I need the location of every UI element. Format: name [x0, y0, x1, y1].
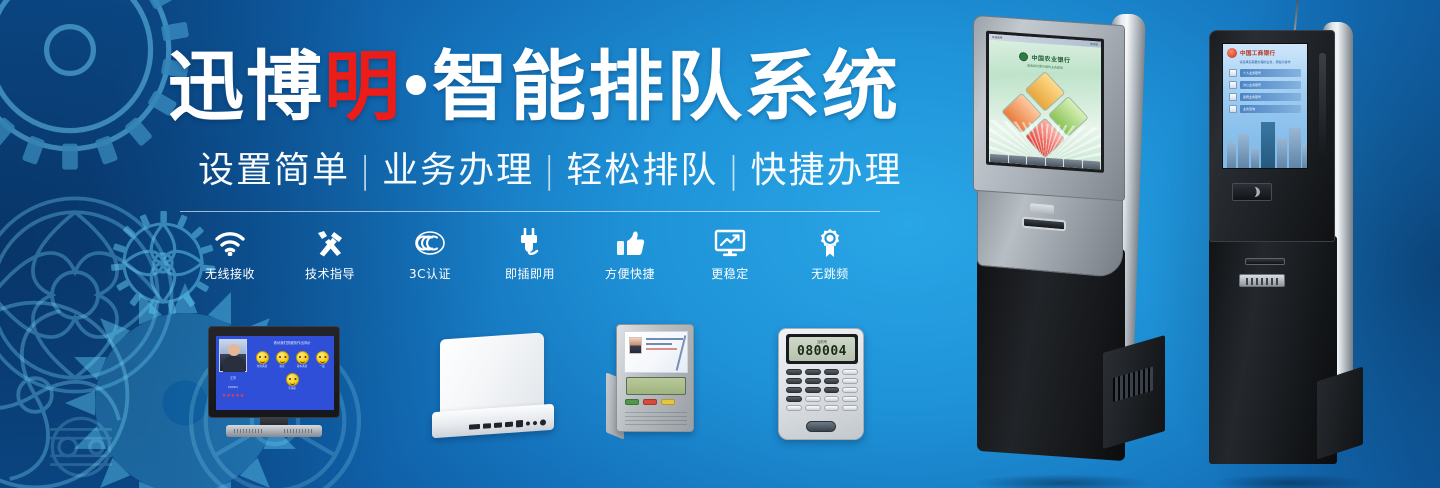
monitor-staff-panel: 王芳 100001 ★★★★★ — [216, 336, 250, 410]
keypad-key[interactable] — [842, 396, 858, 402]
kiosk-screen-statusbar: 欢迎使用 取号机 — [989, 34, 1101, 48]
product-evaluator-terminal — [606, 324, 698, 442]
kiosk-side-box — [1103, 335, 1165, 449]
product-kiosk-green: 欢迎使用 取号机 中国农业银行 请选择您要办理的业务类型 — [955, 14, 1170, 488]
kiosk-screen[interactable]: 中国工商银行 请选择您需要办理的业务，按提示操作 个人业务取号 对公业务取号 贵… — [1222, 43, 1308, 169]
emoji-rating-grid: 非常满意 满意 基本满意 — [253, 351, 331, 391]
kiosk-head: 欢迎使用 取号机 中国农业银行 请选择您要办理的业务类型 — [973, 15, 1125, 202]
status-left: 欢迎使用 — [992, 35, 1002, 40]
feature-label: 更稳定 — [711, 267, 749, 281]
evaluator-body — [616, 324, 694, 432]
subtitle-separator: | — [359, 150, 373, 191]
subtitle-separator: | — [543, 150, 557, 191]
evaluator-key-unsatisfied[interactable] — [643, 399, 657, 405]
keypad-key[interactable] — [786, 378, 802, 384]
keypad-key[interactable] — [786, 396, 802, 402]
banner-text-block: 迅博明智能排队系统 设置简单|业务办理|轻松排队|快捷办理 无线接收 — [0, 0, 900, 300]
ticket-dispenser-slot — [1022, 217, 1066, 232]
emoji-face-icon — [286, 373, 299, 386]
keypad-body: 当前号 080004 — [778, 328, 864, 440]
emoji-label: 基本满意 — [296, 365, 309, 369]
kiosk-logo-badge — [1239, 274, 1285, 287]
kiosk-head: 中国工商银行 请选择您需要办理的业务，按提示操作 个人业务取号 对公业务取号 贵… — [1209, 30, 1335, 242]
subtitle-item-1: 设置简单 — [198, 150, 350, 191]
kiosk-menu-item[interactable]: 贵宾业务取号 — [1229, 93, 1301, 101]
title-separator-dot — [406, 75, 426, 95]
emoji-option: 基本满意 — [296, 351, 309, 369]
port-usb — [483, 423, 491, 429]
feature-item-tech-support: 技术指导 — [280, 226, 380, 281]
kiosk-side-vent — [1319, 53, 1326, 163]
kiosk-screen-subtitle: 请选择您需要办理的业务，按提示操作 — [1223, 60, 1307, 65]
emoji-option: 一般 — [316, 351, 329, 369]
keypad-enter-button[interactable] — [806, 421, 836, 432]
menu-item-label: 个人业务取号 — [1240, 69, 1301, 77]
screen-button[interactable] — [1027, 156, 1045, 165]
evaluator-id-card — [624, 331, 688, 373]
emoji-face-icon — [316, 351, 329, 364]
keypad-key[interactable] — [824, 405, 840, 411]
evaluator-key-row — [625, 399, 687, 405]
keypad-key[interactable] — [805, 405, 821, 411]
feature-item-no-frequency-hopping: 无跳频 — [780, 226, 880, 281]
product-showcase: 王芳 100001 ★★★★★ 请对我们的服务作出评价 非常满意 — [0, 318, 900, 458]
keypad-key[interactable] — [842, 387, 858, 393]
page-subtitle: 设置简单|业务办理|轻松排队|快捷办理 — [198, 148, 902, 194]
product-calling-keypad: 当前号 080004 — [778, 328, 864, 440]
monitor-chart-icon — [710, 226, 750, 260]
product-controller-hub — [432, 336, 554, 442]
id-card-photo — [629, 337, 642, 354]
tools-icon — [310, 226, 350, 260]
title-part-2: 智能排队系统 — [432, 42, 900, 131]
kiosk-menu-list: 个人业务取号 对公业务取号 贵宾业务取号 业务咨询 — [1223, 69, 1307, 113]
menu-item-label: 对公业务取号 — [1240, 81, 1301, 89]
evaluator-key-satisfied[interactable] — [625, 399, 639, 405]
feature-item-wireless: 无线接收 — [180, 226, 280, 281]
power-plug-icon — [510, 226, 550, 260]
card-reader[interactable] — [1232, 183, 1272, 201]
subtitle-item-4: 快捷办理 — [750, 150, 902, 191]
staff-id: 100001 — [219, 385, 247, 390]
feature-label: 3C认证 — [409, 267, 451, 281]
keypad-key[interactable] — [805, 396, 821, 402]
hub-port-row — [469, 418, 546, 430]
kiosk-ground-shadow — [972, 474, 1153, 488]
promo-banner: 迅博明智能排队系统 设置简单|业务办理|轻松排队|快捷办理 无线接收 — [0, 0, 1440, 488]
port-power — [540, 419, 546, 425]
kiosk-menu-item[interactable]: 个人业务取号 — [1229, 69, 1301, 77]
nfc-wave-icon — [1244, 187, 1260, 197]
screen-button[interactable] — [1064, 159, 1082, 168]
feature-label: 技术指导 — [305, 267, 355, 281]
keypad-key[interactable] — [786, 405, 802, 411]
feature-item-plug-and-play: 即插即用 — [480, 226, 580, 281]
screen-button[interactable] — [1083, 160, 1101, 169]
feature-label: 方便快捷 — [605, 267, 655, 281]
feature-label: 即插即用 — [505, 267, 555, 281]
kiosk-menu-item[interactable]: 对公业务取号 — [1229, 81, 1301, 89]
ticket-dispenser-slot — [1245, 258, 1285, 265]
status-right: 取号机 — [1090, 42, 1098, 47]
keypad-key[interactable] — [805, 378, 821, 384]
keypad-key[interactable] — [842, 405, 858, 411]
evaluator-key-average[interactable] — [661, 399, 675, 405]
port-rj45 — [469, 424, 480, 430]
feature-item-convenient: 方便快捷 — [580, 226, 680, 281]
emoji-label: 不满意 — [286, 387, 299, 391]
bank-name: 中国工商银行 — [1240, 49, 1275, 57]
keypad-key[interactable] — [824, 369, 840, 375]
keypad-display-value: 080004 — [797, 345, 847, 359]
menu-item-label: 业务咨询 — [1240, 105, 1301, 113]
ccc-certify-icon — [410, 226, 450, 260]
staff-name: 王芳 — [219, 376, 247, 381]
staff-rating-stars: ★★★★★ — [219, 393, 247, 399]
keypad-key[interactable] — [824, 378, 840, 384]
product-kiosk-blue: 中国工商银行 请选择您需要办理的业务，按提示操作 个人业务取号 对公业务取号 贵… — [1195, 22, 1385, 488]
menu-item-icon — [1229, 81, 1237, 89]
bank-logo-icon — [1019, 52, 1028, 62]
staff-photo — [219, 339, 247, 372]
kiosk-menu-item[interactable]: 业务咨询 — [1229, 105, 1301, 113]
id-card-text-lines — [646, 338, 683, 353]
menu-item-label: 贵宾业务取号 — [1240, 93, 1301, 101]
emoji-face-icon — [276, 351, 289, 364]
subtitle-item-3: 轻松排队 — [566, 150, 718, 191]
keypad-key[interactable] — [805, 387, 821, 393]
feature-list: 无线接收 技术指导 — [180, 226, 880, 294]
port-audio — [526, 421, 530, 425]
emoji-face-icon — [296, 351, 309, 364]
wifi-icon — [210, 226, 250, 260]
port-audio — [533, 420, 537, 424]
keypad-lcd-frame: 当前号 080004 — [786, 334, 858, 364]
screen-city-illustration — [1223, 116, 1307, 168]
emoji-option: 不满意 — [286, 373, 299, 391]
kiosk-ground-shadow — [1210, 474, 1370, 488]
monitor-base — [226, 425, 322, 437]
title-part-1: 迅博 — [168, 42, 324, 131]
menu-item-icon — [1229, 105, 1237, 113]
kiosk-side-box — [1317, 367, 1363, 460]
screen-button[interactable] — [990, 154, 1008, 163]
thumbs-up-icon — [610, 226, 650, 260]
kiosk-vent-grille — [1113, 367, 1153, 402]
kiosk-screen[interactable]: 欢迎使用 取号机 中国农业银行 请选择您要办理的业务类型 — [986, 31, 1104, 173]
feature-item-3c-certified: 3C认证 — [380, 226, 480, 281]
emoji-option: 满意 — [276, 351, 289, 369]
product-evaluation-monitor: 王芳 100001 ★★★★★ 请对我们的服务作出评价 非常满意 — [208, 326, 340, 438]
evaluator-lcd — [626, 377, 686, 395]
feature-item-stable: 更稳定 — [680, 226, 780, 281]
subtitle-item-2: 业务办理 — [382, 150, 534, 191]
screen-button[interactable] — [1009, 155, 1027, 164]
keypad-lcd: 当前号 080004 — [789, 337, 855, 361]
emoji-label: 满意 — [276, 365, 289, 369]
monitor-rating-panel: 请对我们的服务作出评价 非常满意 满意 — [250, 336, 334, 410]
keypad-key[interactable] — [824, 387, 840, 393]
evaluator-label-strip — [625, 409, 687, 425]
keypad-key[interactable] — [805, 369, 821, 375]
monitor-bezel: 王芳 100001 ★★★★★ 请对我们的服务作出评价 非常满意 — [208, 326, 340, 418]
emoji-label: 一般 — [316, 365, 329, 369]
kiosk-bank-header: 中国工商银行 — [1223, 44, 1307, 59]
port-usb — [494, 422, 502, 428]
emoji-face-icon — [256, 351, 269, 364]
port-usb — [505, 422, 513, 428]
subtitle-separator: | — [727, 150, 741, 191]
keypad-button-grid — [786, 369, 858, 411]
rating-prompt: 请对我们的服务作出评价 — [253, 340, 331, 346]
port-serial — [516, 420, 523, 427]
keypad-key[interactable] — [842, 378, 858, 384]
kiosk-logo — [1030, 203, 1054, 214]
monitor-screen: 王芳 100001 ★★★★★ 请对我们的服务作出评价 非常满意 — [216, 336, 334, 410]
emoji-label: 非常满意 — [256, 365, 269, 369]
feature-label: 无线接收 — [205, 267, 255, 281]
feature-label: 无跳频 — [811, 267, 849, 281]
menu-item-icon — [1229, 93, 1237, 101]
horizontal-divider — [180, 211, 880, 212]
keypad-key[interactable] — [842, 369, 858, 375]
title-highlight: 明 — [324, 42, 402, 131]
page-title: 迅博明智能排队系统 — [168, 44, 900, 130]
keypad-key[interactable] — [786, 387, 802, 393]
keypad-key[interactable] — [824, 396, 840, 402]
keypad-key[interactable] — [786, 369, 802, 375]
award-ribbon-icon — [810, 226, 850, 260]
emoji-option: 非常满意 — [256, 351, 269, 369]
bank-logo-icon — [1227, 48, 1237, 58]
bank-name: 中国农业银行 — [1031, 53, 1070, 65]
screen-button[interactable] — [1046, 158, 1064, 167]
menu-item-icon — [1229, 69, 1237, 77]
